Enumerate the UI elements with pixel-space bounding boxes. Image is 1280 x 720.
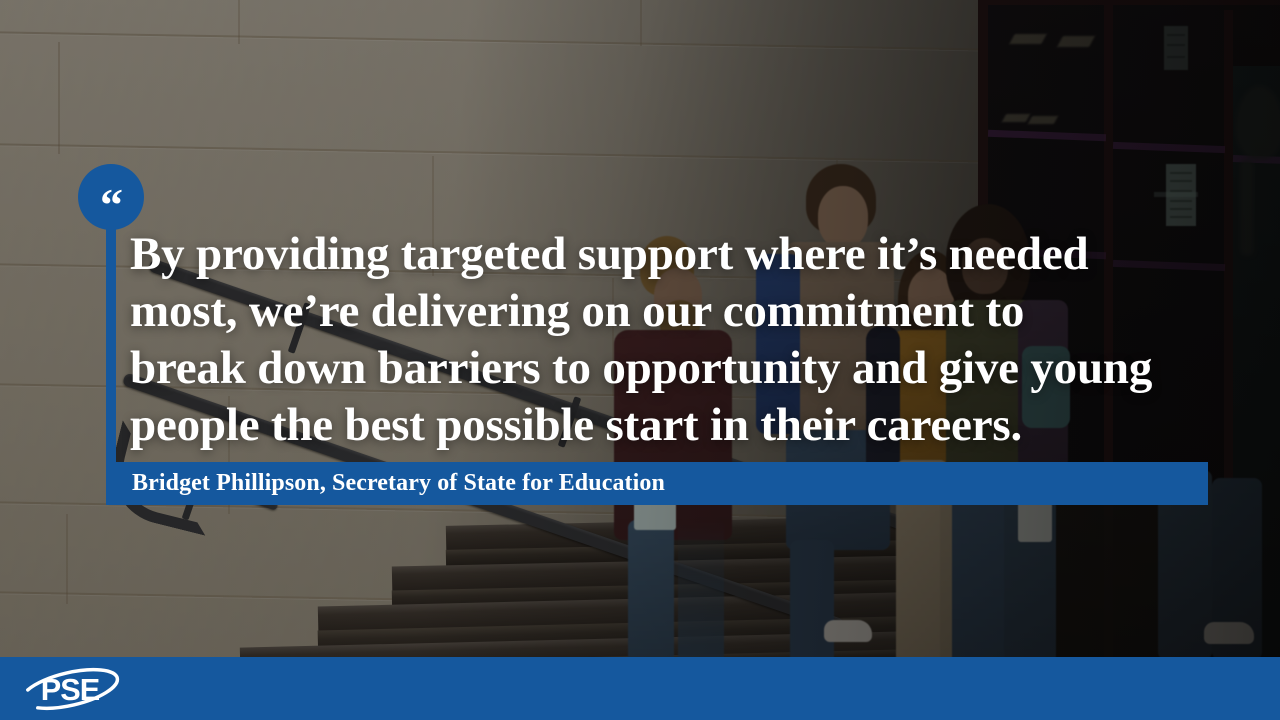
footer-bar: PSE [0,657,1280,720]
quote-line: most, we’re delivering on our commitment… [130,283,1190,340]
quote-line: people the best possible start in their … [130,397,1190,454]
quote-line: break down barriers to opportunity and g… [130,340,1190,397]
quote-badge: “ [78,164,144,230]
attribution-text: Bridget Phillipson, Secretary of State f… [132,470,665,497]
pse-logo[interactable]: PSE [18,665,122,713]
logo-wordmark: PSE [41,672,100,707]
quote-accent-line [106,214,116,462]
quote-line: By providing targeted support where it’s… [130,226,1190,283]
pse-logo-svg: PSE [18,665,122,713]
quotation-mark-icon: “ [100,182,122,228]
attribution-bar: Bridget Phillipson, Secretary of State f… [106,462,1208,505]
quote-text: By providing targeted support where it’s… [130,226,1190,454]
quote-card-graphic: “ By providing targeted support where it… [0,0,1280,720]
